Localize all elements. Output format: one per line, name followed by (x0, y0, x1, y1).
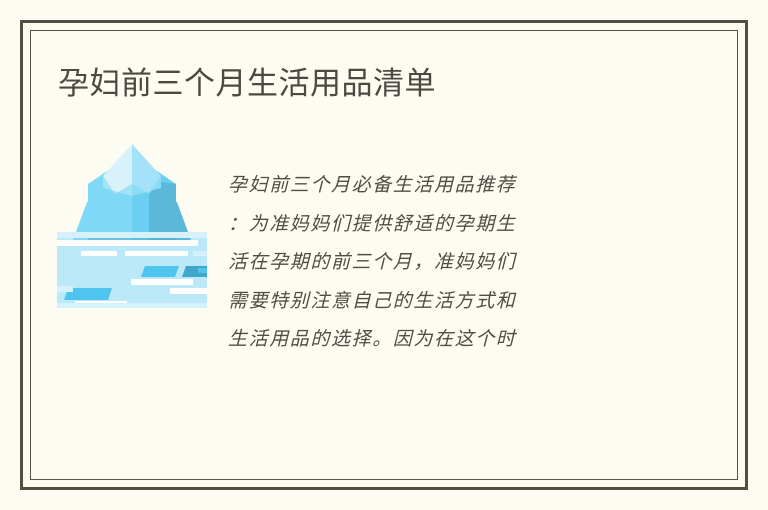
article-line: ：为准妈妈们提供舒适的孕期生 (228, 205, 640, 244)
article-line: 需要特别注意自己的生活方式和 (228, 282, 640, 321)
article-line: 活在孕期的前三个月，准妈妈们 (228, 243, 640, 282)
article-line: 生活用品的选择。因为在这个时 (228, 320, 640, 359)
iceberg-illustration (57, 140, 207, 308)
iceberg-icon (57, 140, 207, 308)
article-body: 孕妇前三个月必备生活用品推荐 ：为准妈妈们提供舒适的孕期生 活在孕期的前三个月，… (228, 166, 640, 359)
article-line: 孕妇前三个月必备生活用品推荐 (228, 166, 640, 205)
article-card-page: 孕妇前三个月生活用品清单 (0, 0, 768, 510)
page-title: 孕妇前三个月生活用品清单 (58, 62, 436, 106)
